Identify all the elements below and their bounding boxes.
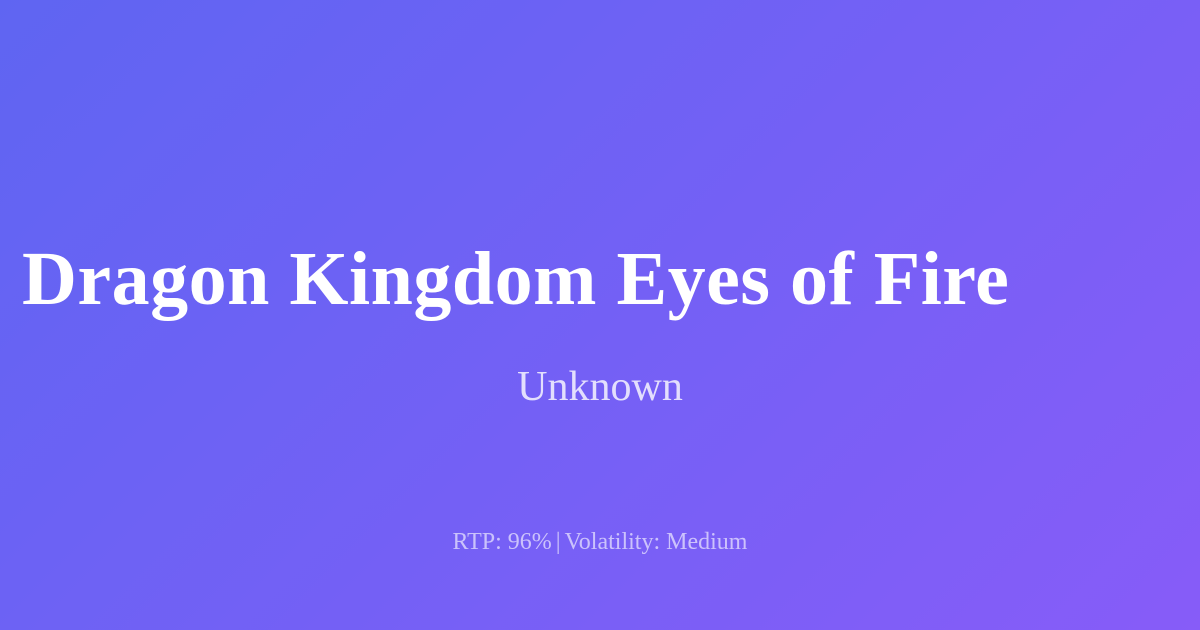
og-share-card: Dragon Kingdom Eyes of Fire Unknown RTP:… (0, 0, 1200, 630)
page-title: Dragon Kingdom Eyes of Fire (0, 240, 1009, 320)
provider-name: Unknown (0, 362, 1200, 412)
title-row: Dragon Kingdom Eyes of Fire (0, 232, 1200, 328)
game-meta-line: RTP: 96%|Volatility: Medium (0, 527, 1200, 558)
meta-separator: | (552, 529, 565, 555)
volatility-value: Volatility: Medium (565, 529, 748, 555)
rtp-value: RTP: 96% (453, 529, 552, 555)
